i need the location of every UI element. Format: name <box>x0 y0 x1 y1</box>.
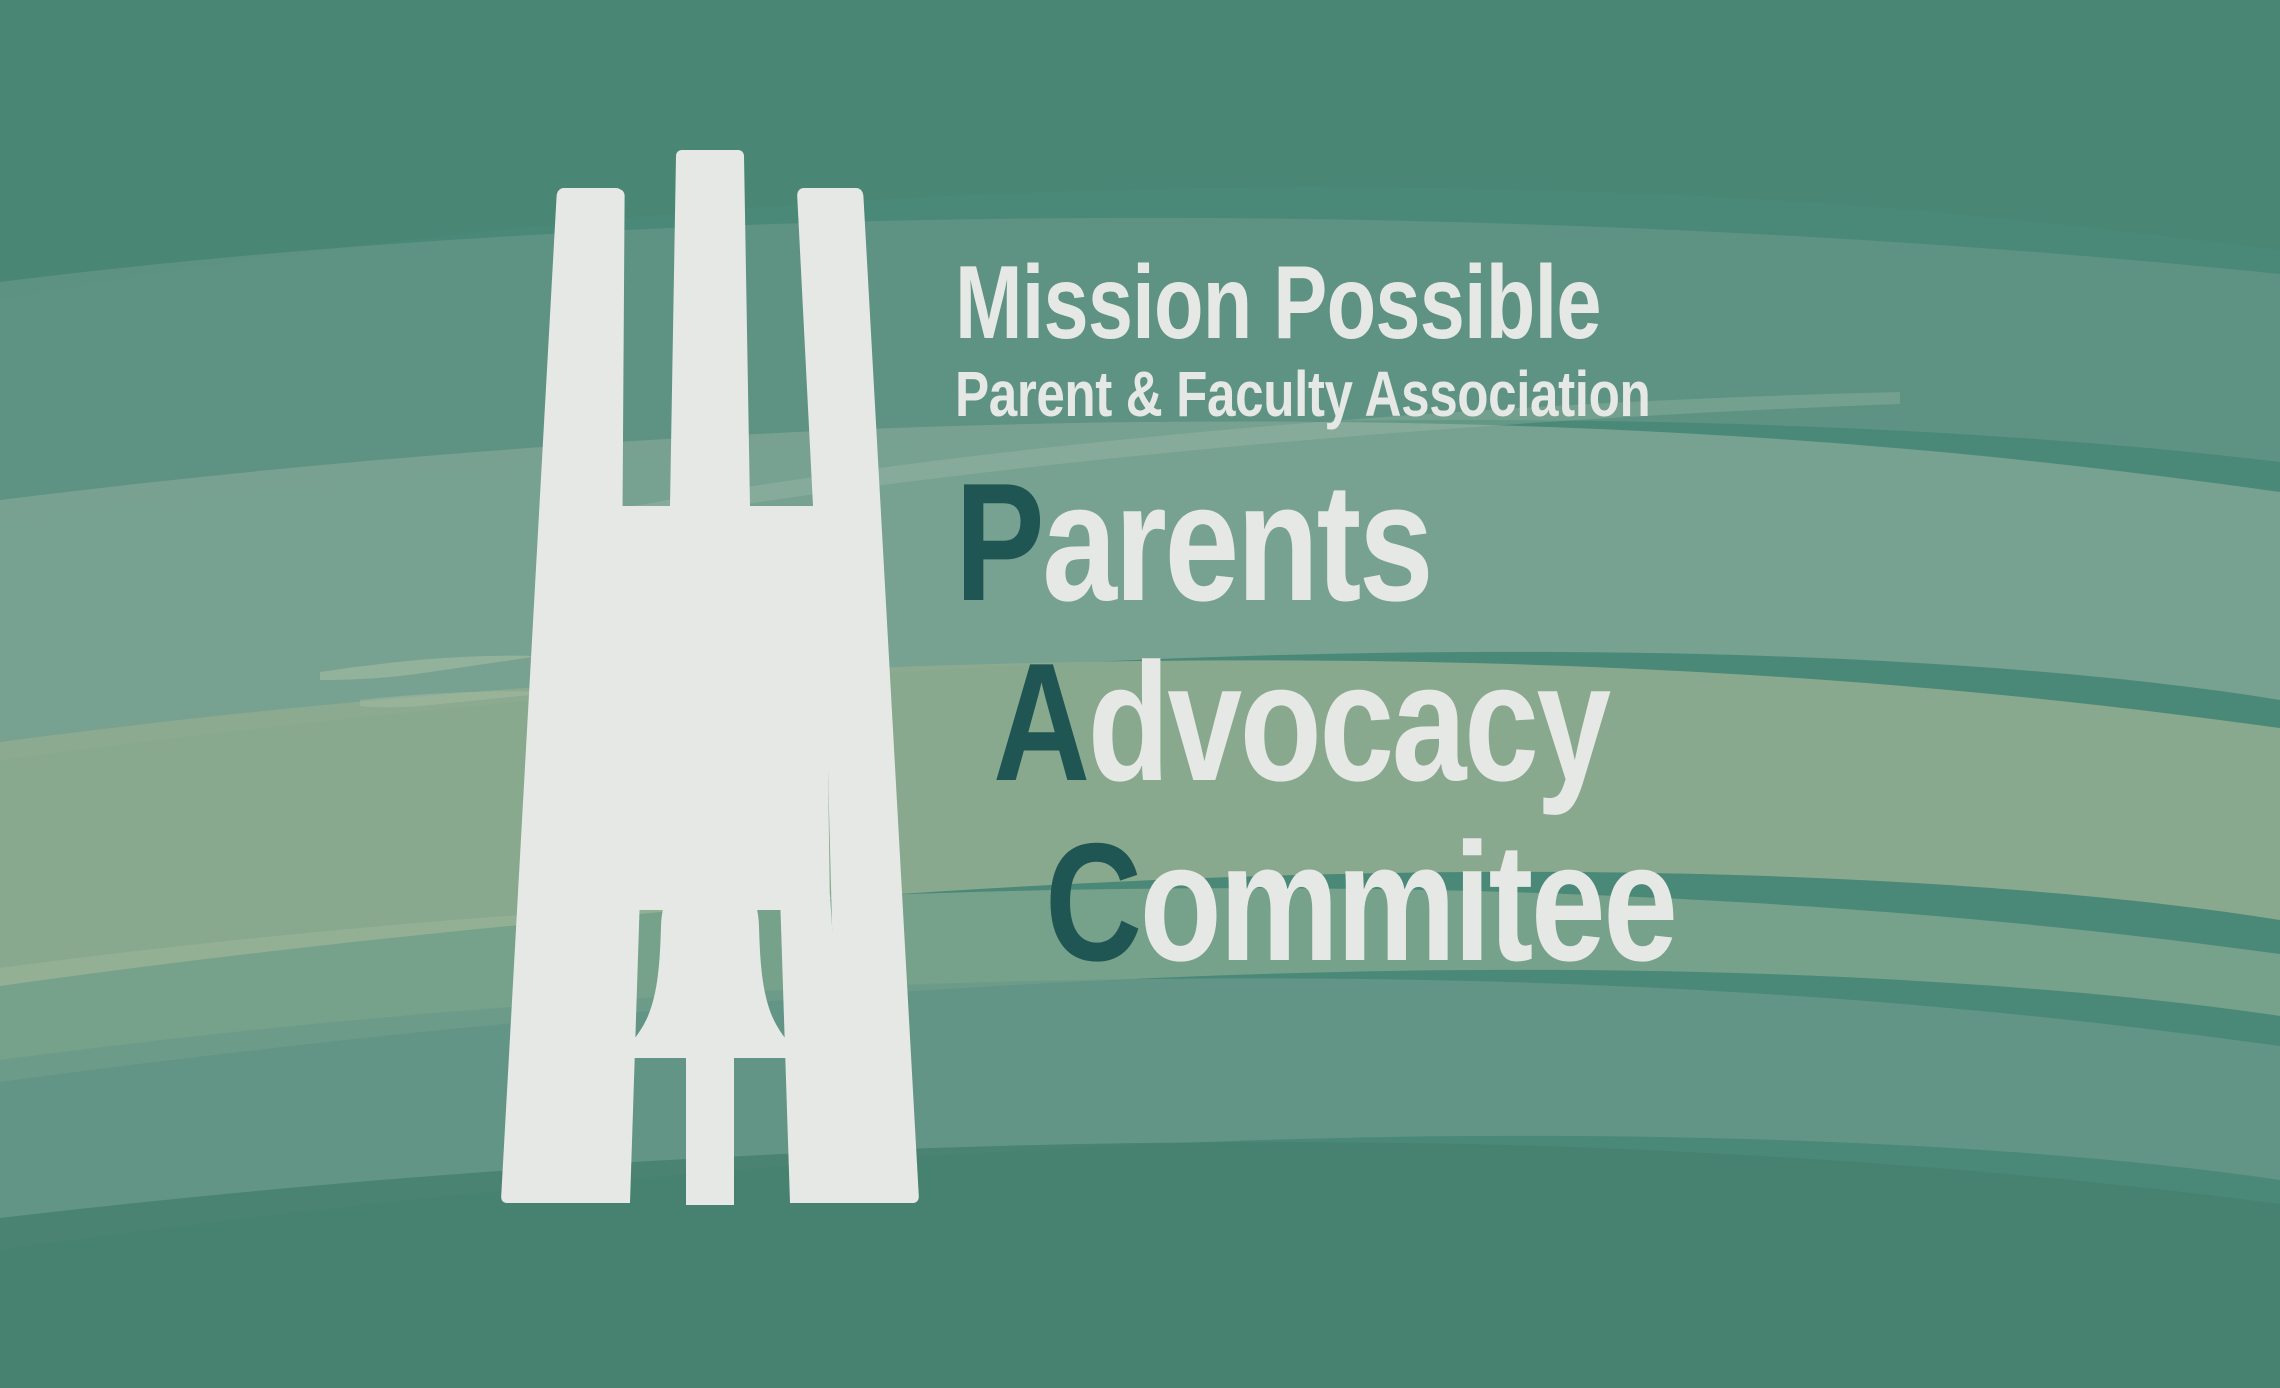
acrostic-initial-a: A <box>993 628 1088 816</box>
acrostic-rest-advocacy: dvocacy <box>1088 628 1609 816</box>
organization-subtitle: Parent & Faculty Association <box>955 359 1955 431</box>
acrostic-line-commitee: Commitee <box>1045 824 1973 982</box>
acrostic-rest-commitee: ommitee <box>1140 808 1676 996</box>
logo-container <box>500 150 920 1220</box>
acrostic-line-advocacy: Advocacy <box>993 644 1963 802</box>
acrostic-block: Parents Advocacy Commitee <box>955 464 2205 982</box>
mission-bell-tower-icon <box>500 150 920 1220</box>
acrostic-initial-p: P <box>955 448 1042 636</box>
acrostic-initial-c: C <box>1045 808 1140 996</box>
organization-name: Mission Possible <box>955 255 1930 353</box>
acrostic-line-parents: Parents <box>955 464 1955 622</box>
text-block: Mission Possible Parent & Faculty Associ… <box>955 255 2205 982</box>
banner-canvas: Mission Possible Parent & Faculty Associ… <box>0 0 2280 1388</box>
acrostic-rest-parents: arents <box>1042 448 1431 636</box>
